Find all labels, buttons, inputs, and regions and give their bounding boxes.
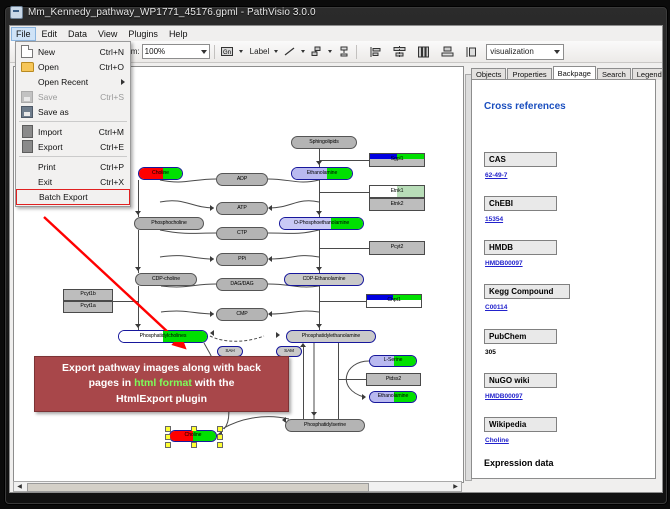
node-label: Ethanolamine bbox=[378, 394, 409, 399]
backpage-panel: Cross references CAS 62-49-7 ChEBI 15354… bbox=[471, 79, 656, 479]
scroll-left-icon[interactable]: ◀ bbox=[14, 482, 25, 491]
node-label: SAM bbox=[284, 349, 294, 354]
arrow-down-icon bbox=[316, 211, 322, 215]
node-label: Ethanolamine bbox=[307, 171, 338, 176]
pathway-node-etnk2[interactable]: Etnk2 bbox=[369, 198, 425, 211]
menu-plugins[interactable]: Plugins bbox=[123, 27, 163, 41]
panel-tab-row: Objects Properties Backpage Search Legen… bbox=[471, 66, 663, 80]
toolbar-divider bbox=[214, 45, 215, 59]
menu-divider bbox=[19, 156, 127, 157]
side-panel: Objects Properties Backpage Search Legen… bbox=[465, 66, 659, 492]
annotation-callout: Export pathway images along with back pa… bbox=[34, 356, 289, 412]
new-document-icon bbox=[16, 45, 38, 58]
pathway-node-phosphatidylserine[interactable]: Phosphatidylserine bbox=[285, 419, 365, 432]
resize-handle[interactable] bbox=[165, 442, 171, 448]
node-label: Pcyt2 bbox=[391, 245, 403, 250]
xref-value-chebi[interactable]: 15354 bbox=[485, 216, 503, 223]
node-label: Phosphatidylcholines bbox=[140, 334, 187, 339]
xref-value-pubchem: 305 bbox=[485, 349, 496, 356]
node-label: ADP bbox=[237, 177, 247, 182]
selection-group: Choline bbox=[167, 428, 219, 444]
chevron-down-icon[interactable] bbox=[301, 50, 305, 53]
group-icon[interactable] bbox=[440, 44, 455, 59]
file-menu-label: Open Recent bbox=[38, 77, 130, 87]
xref-label-chebi: ChEBI bbox=[484, 196, 557, 211]
callout-line2-highlight: html format bbox=[134, 377, 192, 389]
visualization-select[interactable]: visualization bbox=[486, 44, 564, 60]
client-area: File Edit Data View Plugins Help Zoom: 1… bbox=[9, 25, 663, 493]
pathway-node-ppi[interactable]: PPi bbox=[216, 253, 268, 266]
xref-value-cas[interactable]: 62-49-7 bbox=[485, 172, 507, 179]
chevron-down-icon bbox=[201, 50, 207, 54]
xref-value-hmdb[interactable]: HMDB00097 bbox=[485, 260, 523, 267]
menu-help[interactable]: Help bbox=[164, 27, 193, 41]
label-button[interactable]: Label bbox=[250, 47, 270, 56]
file-menu-popup[interactable]: New Ctrl+N Open Ctrl+O Open Recent Save … bbox=[15, 41, 131, 207]
node-label: CDP-choline bbox=[152, 277, 180, 282]
file-menu-item-import[interactable]: Import Ctrl+M bbox=[16, 124, 130, 139]
node-label: CDP-Ethanolamine bbox=[303, 277, 346, 282]
file-menu-label: New bbox=[38, 47, 100, 57]
import-icon bbox=[16, 125, 38, 138]
pathway-node-dag[interactable]: DAG/DAG bbox=[216, 278, 268, 291]
arrow-right-icon bbox=[210, 256, 214, 262]
xref-value-kegg-compound[interactable]: C00114 bbox=[485, 304, 507, 311]
resize-handle[interactable] bbox=[191, 442, 197, 448]
file-menu-label: Save as bbox=[38, 107, 124, 117]
xref-label-pubchem: PubChem bbox=[484, 329, 557, 344]
node-label: O-Phosphoethanolamine bbox=[294, 221, 349, 226]
chevron-down-icon[interactable] bbox=[274, 50, 278, 53]
node-label: SAH bbox=[225, 349, 234, 354]
pathway-node-atp[interactable]: ATP bbox=[216, 202, 268, 215]
node-label: Ptdss2 bbox=[386, 377, 401, 382]
node-label: Sgpl1 bbox=[391, 157, 404, 162]
expression-data-title: Expression data bbox=[484, 458, 554, 468]
line-icon[interactable] bbox=[282, 44, 297, 59]
export-icon bbox=[16, 140, 38, 153]
stack-icon[interactable] bbox=[336, 44, 351, 59]
menu-view[interactable]: View bbox=[93, 27, 122, 41]
node-label: CTP bbox=[237, 231, 247, 236]
pathway-node-ethanolamine-lower[interactable]: Ethanolamine bbox=[369, 391, 417, 403]
arrow-right-icon bbox=[210, 205, 214, 211]
chevron-down-icon[interactable] bbox=[328, 50, 332, 53]
node-label: Etnk1 bbox=[391, 189, 404, 194]
file-menu-item-new[interactable]: New Ctrl+N bbox=[16, 44, 130, 59]
node-label: Choline bbox=[152, 171, 169, 176]
arrow-right-icon bbox=[362, 394, 366, 400]
align-left-icon[interactable] bbox=[368, 44, 383, 59]
window-title: Mm_Kennedy_pathway_WP1771_45176.gpml - P… bbox=[28, 7, 316, 18]
arrow-down-icon bbox=[316, 324, 322, 328]
xref-label-hmdb: HMDB bbox=[484, 240, 557, 255]
resize-handle[interactable] bbox=[165, 426, 171, 432]
file-menu-item-batch-export[interactable]: Batch Export bbox=[16, 189, 130, 205]
menu-divider bbox=[19, 121, 127, 122]
xref-value-wikipedia[interactable]: Choline bbox=[485, 437, 509, 444]
connector-line bbox=[319, 248, 369, 249]
scroll-right-icon[interactable]: ▶ bbox=[450, 482, 461, 491]
zoom-select[interactable]: 100% bbox=[142, 44, 210, 59]
callout-line1: Export pathway images along with back bbox=[62, 362, 261, 374]
node-label: Chpt1 bbox=[387, 298, 400, 303]
file-menu-item-exit[interactable]: Exit Ctrl+X bbox=[16, 174, 130, 189]
align-center-icon[interactable] bbox=[392, 44, 407, 59]
arrow-left-icon bbox=[210, 330, 214, 336]
arrow-down-icon bbox=[135, 211, 141, 215]
callout-line2-prefix: pages in bbox=[89, 377, 135, 389]
file-menu-accelerator: Ctrl+S bbox=[100, 92, 130, 102]
file-menu-item-save: Save Ctrl+S bbox=[16, 89, 130, 104]
file-menu-accelerator: Ctrl+P bbox=[100, 162, 130, 172]
xref-label-wikipedia: Wikipedia bbox=[484, 417, 557, 432]
node-label: L-Serine bbox=[384, 358, 403, 363]
pathway-node-ctp[interactable]: CTP bbox=[216, 227, 268, 240]
file-menu-accelerator: Ctrl+X bbox=[100, 177, 130, 187]
arrow-down-icon bbox=[135, 267, 141, 271]
tab-backpage[interactable]: Backpage bbox=[553, 66, 596, 81]
pathway-node-choline-bottom[interactable]: Choline bbox=[169, 430, 217, 442]
pathvisio-app-icon bbox=[10, 6, 23, 19]
pathway-node-cdp-ethanolamine[interactable]: CDP-Ethanolamine bbox=[284, 273, 364, 286]
arrow-down-icon bbox=[316, 267, 322, 271]
pathway-node-cdp-choline[interactable]: CDP-choline bbox=[135, 273, 197, 286]
xref-label-cas: CAS bbox=[484, 152, 557, 167]
gene-product-icon[interactable]: Gn bbox=[220, 44, 235, 59]
xref-label-kegg-compound: Kegg Compound bbox=[484, 284, 570, 299]
connector-line bbox=[319, 301, 366, 302]
file-menu-label: Save bbox=[38, 92, 100, 102]
pathway-node-pcyt1b[interactable]: Pcyt1b bbox=[63, 289, 113, 301]
pathway-node-cmp[interactable]: CMP bbox=[216, 308, 268, 321]
pathway-node-sgpl1[interactable]: Sgpl1 bbox=[369, 153, 425, 167]
pathway-node-l-serine[interactable]: L-Serine bbox=[369, 355, 417, 367]
node-label: Phosphatidylethanolamine bbox=[302, 334, 360, 339]
node-label: Etnk2 bbox=[391, 202, 404, 207]
callout-line3: HtmlExport plugin bbox=[116, 393, 207, 405]
arrow-down-icon bbox=[311, 412, 317, 416]
save-as-disk-icon bbox=[16, 106, 38, 118]
pathway-node-adp[interactable]: ADP bbox=[216, 173, 268, 186]
node-label: CMP bbox=[236, 312, 247, 317]
pathway-node-phosphatidylethanolamine[interactable]: Phosphatidylethanolamine bbox=[286, 330, 376, 343]
node-label: Choline bbox=[185, 433, 202, 438]
node-label: Pcyt1a bbox=[80, 304, 95, 309]
pathway-node-o-phosphoethanolamine[interactable]: O-Phosphoethanolamine bbox=[279, 217, 364, 230]
file-menu-label: Exit bbox=[38, 177, 100, 187]
resize-handle[interactable] bbox=[217, 426, 223, 432]
resize-handle[interactable] bbox=[217, 442, 223, 448]
pathway-node-etnk1[interactable]: Etnk1 bbox=[369, 185, 425, 198]
xref-value-nugo-wiki[interactable]: HMDB00097 bbox=[485, 393, 523, 400]
file-menu-item-save-as[interactable]: Save as bbox=[16, 104, 130, 119]
ungroup-icon[interactable] bbox=[464, 44, 479, 59]
menu-data[interactable]: Data bbox=[63, 27, 92, 41]
node-label: DAG/DAG bbox=[230, 282, 253, 287]
file-menu-label: Print bbox=[38, 162, 100, 172]
file-menu-item-export[interactable]: Export Ctrl+E bbox=[16, 139, 130, 154]
anchor-icon[interactable] bbox=[309, 44, 324, 59]
file-menu-accelerator: Ctrl+M bbox=[99, 127, 130, 137]
file-menu-accelerator: Ctrl+O bbox=[99, 62, 130, 72]
menu-file[interactable]: File bbox=[11, 27, 36, 41]
open-folder-icon bbox=[16, 62, 38, 72]
file-menu-accelerator: Ctrl+N bbox=[100, 47, 130, 57]
arrow-right-icon bbox=[276, 332, 280, 338]
resize-handle[interactable] bbox=[217, 434, 223, 440]
zoom-value: 100% bbox=[145, 47, 165, 56]
cross-references-title: Cross references bbox=[484, 101, 566, 112]
menu-edit[interactable]: Edit bbox=[37, 27, 63, 41]
connector-line bbox=[338, 343, 339, 423]
node-label: Pcyt1b bbox=[80, 292, 95, 297]
xref-label-nugo-wiki: NuGO wiki bbox=[484, 373, 557, 388]
scrollbar-thumb[interactable] bbox=[27, 483, 369, 492]
file-menu-label: Export bbox=[38, 142, 100, 152]
connector-line bbox=[319, 160, 369, 161]
visualization-value: visualization bbox=[490, 47, 534, 56]
canvas-horizontal-scrollbar[interactable]: ◀ ▶ bbox=[13, 481, 462, 492]
file-menu-label: Import bbox=[38, 127, 99, 137]
connector-line bbox=[319, 192, 369, 193]
save-disk-icon bbox=[16, 91, 38, 103]
arrow-left-icon bbox=[268, 205, 272, 211]
node-label: Sphingolipids bbox=[309, 140, 339, 145]
menu-bar: File Edit Data View Plugins Help bbox=[10, 26, 662, 42]
arrow-down-icon bbox=[316, 161, 322, 165]
pathway-node-choline-top[interactable]: Choline bbox=[138, 167, 183, 180]
arrow-down-icon bbox=[135, 324, 141, 328]
pathway-node-pcyt1a[interactable]: Pcyt1a bbox=[63, 301, 113, 313]
callout-line2-suffix: with the bbox=[192, 377, 235, 389]
app-window: Mm_Kennedy_pathway_WP1771_45176.gpml - P… bbox=[0, 0, 670, 509]
pathway-node-phosphatidylcholines[interactable]: Phosphatidylcholines bbox=[118, 330, 208, 343]
file-menu-label: Open bbox=[38, 62, 99, 72]
file-menu-accelerator: Ctrl+E bbox=[100, 142, 130, 152]
chevron-down-icon[interactable] bbox=[239, 50, 243, 53]
connector-line bbox=[303, 347, 304, 422]
chevron-right-icon bbox=[121, 79, 125, 85]
pathway-node-ptdss2[interactable]: Ptdss2 bbox=[366, 373, 421, 386]
connector-line bbox=[338, 379, 366, 380]
chevron-down-icon bbox=[554, 50, 560, 54]
file-menu-item-open[interactable]: Open Ctrl+O bbox=[16, 59, 130, 74]
file-menu-label: Batch Export bbox=[39, 192, 129, 202]
node-label: ATP bbox=[237, 206, 246, 211]
pathway-node-ethanolamine-top[interactable]: Ethanolamine bbox=[291, 167, 353, 180]
pathway-node-sphingolipids[interactable]: Sphingolipids bbox=[291, 136, 357, 149]
connector-line bbox=[113, 301, 138, 302]
arrow-left-icon bbox=[268, 256, 272, 262]
arrow-right-icon bbox=[210, 311, 214, 317]
node-label: Phosphocholine bbox=[151, 221, 187, 226]
file-menu-item-open-recent[interactable]: Open Recent bbox=[16, 74, 130, 89]
node-label: Phosphatidylserine bbox=[304, 423, 346, 428]
pathway-node-phosphocholine[interactable]: Phosphocholine bbox=[134, 217, 204, 230]
align-middle-icon[interactable] bbox=[416, 44, 431, 59]
title-bar: Mm_Kennedy_pathway_WP1771_45176.gpml - P… bbox=[6, 2, 650, 22]
pathway-node-pcyt2[interactable]: Pcyt2 bbox=[369, 241, 425, 255]
file-menu-item-print[interactable]: Print Ctrl+P bbox=[16, 159, 130, 174]
arrow-left-icon bbox=[268, 311, 272, 317]
svg-text:Gn: Gn bbox=[223, 50, 231, 56]
node-label: PPi bbox=[238, 257, 246, 262]
toolbar-divider bbox=[356, 45, 357, 59]
pathway-node-chpt1[interactable]: Chpt1 bbox=[366, 294, 422, 308]
